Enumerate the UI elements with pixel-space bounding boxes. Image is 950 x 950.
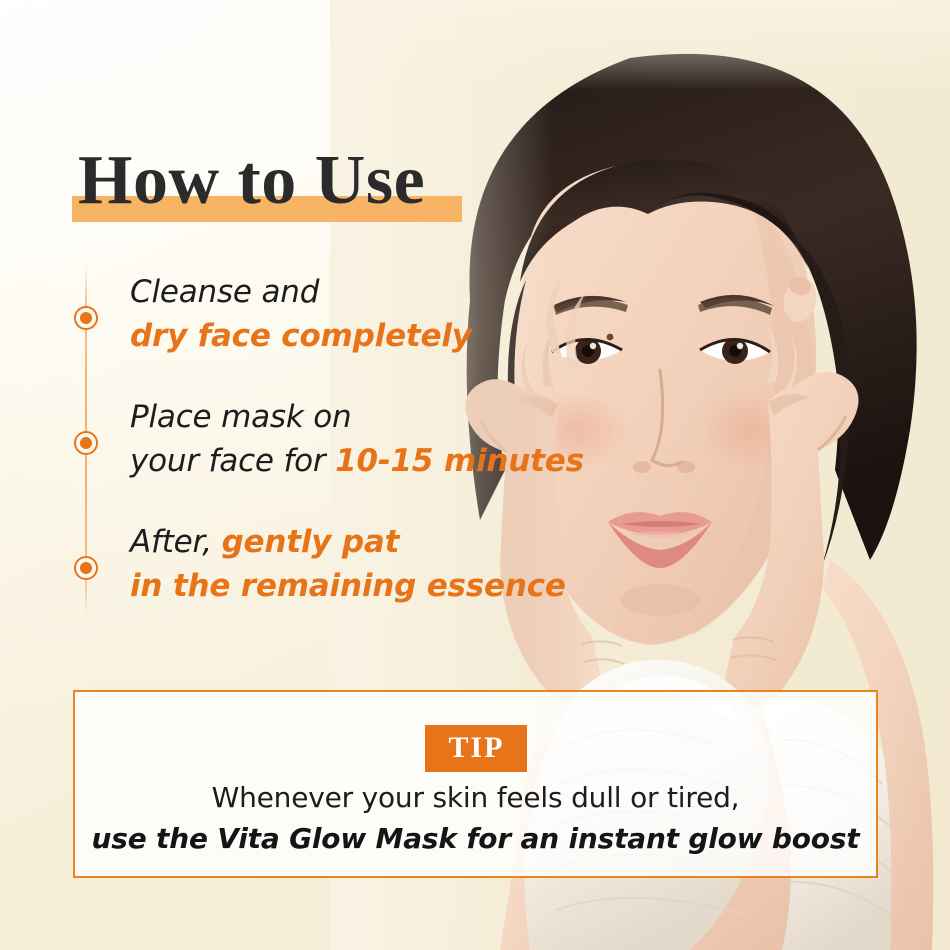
step-2-line-2: your face for 10-15 minutes (130, 439, 600, 483)
steps-list: Cleanse and dry face completely Place ma… (72, 258, 592, 618)
step-3-line-2: in the remaining essence (130, 564, 600, 608)
title-text: How to Use (78, 140, 425, 222)
tip-badge: TIP (424, 725, 526, 772)
step-3-line-1: After, gently pat (130, 520, 600, 564)
tip-line-1: Whenever your skin feels dull or tired, (75, 778, 876, 818)
step-2-text: Place mask on your face for 10-15 minute… (130, 395, 600, 483)
step-1-line-2: dry face completely (130, 314, 600, 358)
tip-line-2: use the Vita Glow Mask for an instant gl… (75, 818, 876, 860)
step-dot-2-icon (74, 431, 98, 455)
step-dot-1-icon (74, 306, 98, 330)
step-3-line-1-plain: After, (130, 524, 222, 560)
step-1-line-1: Cleanse and (130, 270, 600, 314)
tip-box: TIP Whenever your skin feels dull or tir… (73, 690, 878, 878)
tip-body: Whenever your skin feels dull or tired, … (75, 778, 876, 860)
step-3-text: After, gently pat in the remaining essen… (130, 520, 600, 608)
step-3-line-1-highlight: gently pat (222, 524, 400, 560)
step-2-line-1: Place mask on (130, 395, 600, 439)
step-dot-3-icon (74, 556, 98, 580)
step-2-line-2-plain: your face for (130, 443, 335, 479)
infographic-canvas: How to Use Cleanse and dry face complete… (0, 0, 950, 950)
page-title: How to Use (72, 140, 532, 235)
step-1-text: Cleanse and dry face completely (130, 270, 600, 358)
step-2-line-2-highlight: 10-15 minutes (335, 443, 584, 479)
